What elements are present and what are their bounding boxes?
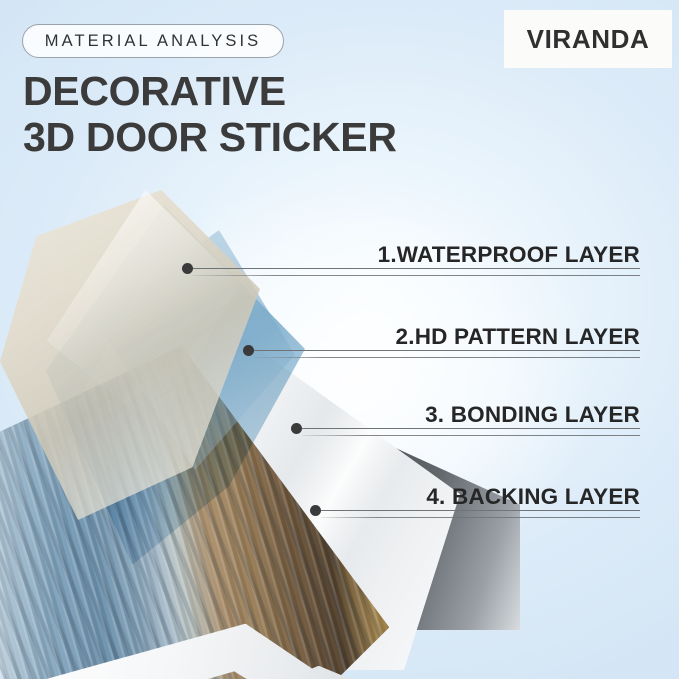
callout-leader-line-1 xyxy=(193,268,640,269)
page-title: DECORATIVE 3D DOOR STICKER xyxy=(23,69,493,161)
brand-logo: VIRANDA xyxy=(504,10,672,68)
page-title-line-2: 3D DOOR STICKER xyxy=(23,115,493,161)
callout-label-3: 3. BONDING LAYER xyxy=(425,402,640,428)
callout-label-4: 4. BACKING LAYER xyxy=(426,484,640,510)
material-analysis-badge: MATERIAL ANALYSIS xyxy=(22,24,284,58)
callout-underline-1 xyxy=(193,275,640,276)
callout-label-1: 1.WATERPROOF LAYER xyxy=(378,242,640,268)
infographic-canvas: MATERIAL ANALYSIS DECORATIVE 3D DOOR STI… xyxy=(0,0,679,679)
callout-leader-line-4 xyxy=(321,510,640,511)
callout-label-2: 2.HD PATTERN LAYER xyxy=(396,324,640,350)
badge-label: MATERIAL ANALYSIS xyxy=(45,32,262,51)
callout-dot-2 xyxy=(243,345,254,356)
page-title-line-1: DECORATIVE xyxy=(23,68,286,114)
callout-underline-4 xyxy=(321,517,640,518)
callout-leader-line-2 xyxy=(254,350,640,351)
product-illustration xyxy=(0,150,470,679)
callout-dot-4 xyxy=(310,505,321,516)
callout-leader-line-3 xyxy=(302,428,640,429)
callout-underline-3 xyxy=(302,435,640,436)
callout-dot-3 xyxy=(291,423,302,434)
callout-underline-2 xyxy=(254,357,640,358)
callout-dot-1 xyxy=(182,263,193,274)
brand-logo-text: VIRANDA xyxy=(527,24,650,55)
